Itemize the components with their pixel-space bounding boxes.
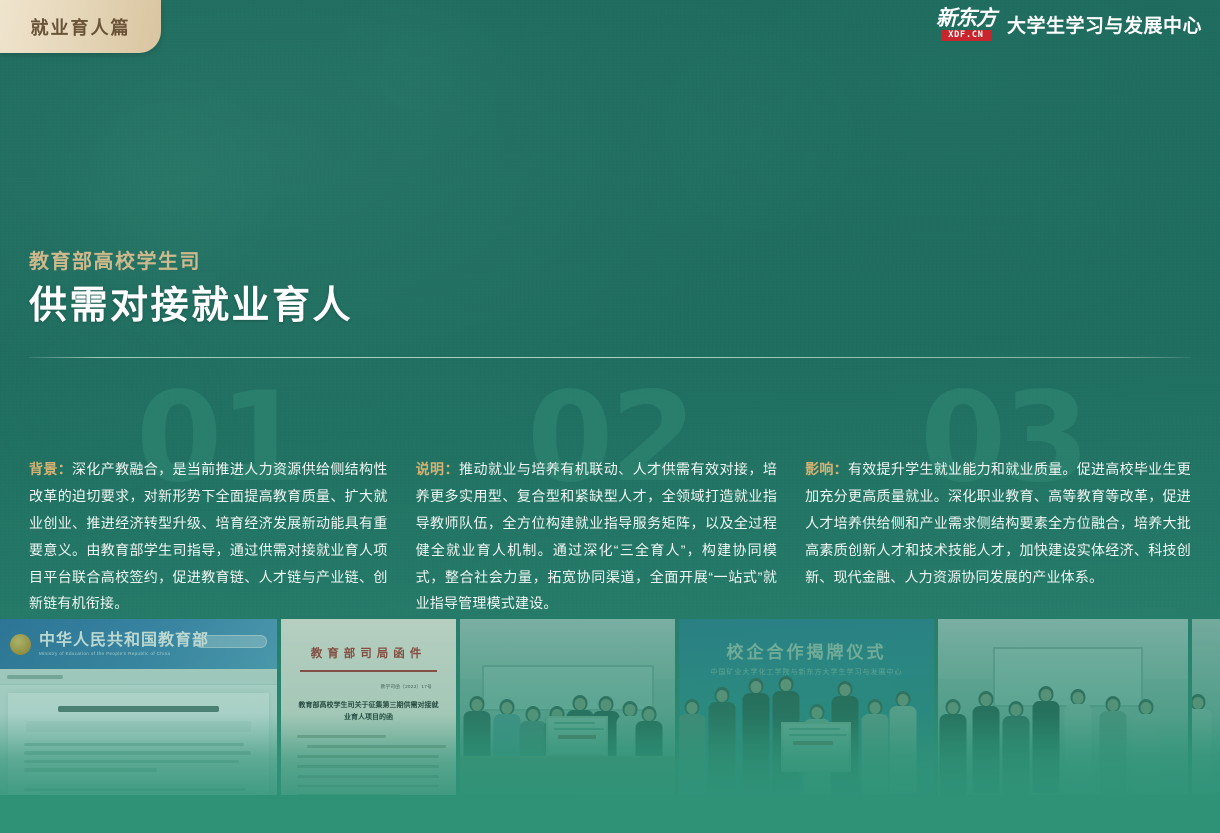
- article-line: [24, 760, 239, 763]
- article-line: [24, 768, 157, 771]
- breadcrumb: [0, 669, 277, 685]
- gallery-strip: 中华人民共和国教育部 Ministry of Education of the …: [0, 619, 1220, 833]
- official-letter: 教育部司局函件 教学司函〔2023〕17号 教育部高校学生司关于征集第三期供需对…: [281, 619, 456, 795]
- website-header: 中华人民共和国教育部 Ministry of Education of the …: [0, 619, 277, 669]
- document-line: [297, 735, 386, 738]
- brand-logo-mark: 新东方 XDF.CN: [936, 8, 996, 41]
- website-screenshot: 中华人民共和国教育部 Ministry of Education of the …: [0, 619, 277, 795]
- brand-logo-cn: 新东方: [936, 8, 996, 29]
- article-line: [24, 743, 244, 746]
- document-line: [297, 775, 439, 778]
- column-description-label: 说明：: [416, 461, 459, 477]
- document-rule: [300, 670, 437, 672]
- content-columns: 背景：深化产教融合，是当前推进人力资源供给侧结构性改革的迫切要求，对新形势下全面…: [29, 456, 1191, 617]
- column-impact-text: 有效提升学生就业能力和就业质量。促进高校毕业生更加充分更高质量就业。深化职业教育…: [805, 461, 1191, 585]
- photo-green-wash: [938, 619, 1188, 795]
- brand-logo-domain: XDF.CN: [941, 30, 991, 41]
- article-meta: [26, 721, 251, 732]
- column-impact-label: 影响：: [805, 461, 848, 477]
- national-emblem-icon: [10, 634, 31, 655]
- website-titles: 中华人民共和国教育部 Ministry of Education of the …: [39, 632, 209, 657]
- website-article: [8, 693, 269, 795]
- document-line: [297, 785, 439, 788]
- article-title: [58, 706, 218, 712]
- gallery-item-photo-signing[interactable]: [460, 619, 675, 795]
- title-block: 教育部高校学生司 供需对接就业育人: [29, 250, 1189, 329]
- column-background-body: 背景：深化产教融合，是当前推进人力资源供给侧结构性改革的迫切要求，对新形势下全面…: [29, 456, 388, 617]
- document-line: [307, 745, 446, 748]
- gallery-item-document[interactable]: 教育部司局函件 教学司函〔2023〕17号 教育部高校学生司关于征集第三期供需对…: [281, 619, 456, 795]
- article-line: [24, 788, 246, 791]
- section-tab[interactable]: 就业育人篇: [0, 0, 161, 53]
- photo-green-wash: [679, 619, 934, 795]
- photo-partial: [1192, 619, 1220, 795]
- column-description-text: 推动就业与培养有机联动、人才供需有效对接，培养更多实用型、复合型和紧缺型人才，全…: [416, 461, 778, 611]
- title-divider: [29, 357, 1191, 358]
- gallery-item-photo-ceremony[interactable]: 校企合作揭牌仪式 中国矿业大学化工学院与新东方大学生学习与发展中心: [679, 619, 934, 795]
- website-title-cn: 中华人民共和国教育部: [39, 632, 209, 650]
- column-impact: 影响：有效提升学生就业能力和就业质量。促进高校毕业生更加充分更高质量就业。深化职…: [805, 456, 1191, 617]
- article-line: [24, 751, 251, 754]
- column-description-body: 说明：推动就业与培养有机联动、人才供需有效对接，培养更多实用型、复合型和紧缺型人…: [416, 456, 778, 617]
- document-line: [297, 794, 401, 795]
- page-title: 供需对接就业育人: [29, 284, 1189, 329]
- brand-name: 大学生学习与发展中心: [1007, 11, 1202, 38]
- document-number: 教学司函〔2023〕17号: [297, 684, 432, 690]
- column-background-text: 深化产教融合，是当前推进人力资源供给侧结构性改革的迫切要求，对新形势下全面提高教…: [29, 461, 388, 611]
- photo-ceremony: 校企合作揭牌仪式 中国矿业大学化工学院与新东方大学生学习与发展中心: [679, 619, 934, 795]
- document-subject: 教育部高校学生司关于征集第三期供需对接就业育人项目的函: [297, 699, 440, 724]
- photo-signing: [460, 619, 675, 795]
- search-input[interactable]: [195, 635, 267, 648]
- photo-green-wash: [1192, 619, 1220, 795]
- title-eyebrow: 教育部高校学生司: [29, 250, 1189, 275]
- website-title-en: Ministry of Education of the People's Re…: [39, 651, 209, 656]
- photo-green-wash: [460, 619, 675, 795]
- column-background-label: 背景：: [29, 461, 72, 477]
- column-description: 说明：推动就业与培养有机联动、人才供需有效对接，培养更多实用型、复合型和紧缺型人…: [416, 456, 806, 617]
- gallery-item-photo-partial[interactable]: [1192, 619, 1220, 795]
- photo-group: [938, 619, 1188, 795]
- column-impact-body: 影响：有效提升学生就业能力和就业质量。促进高校毕业生更加充分更高质量就业。深化职…: [805, 456, 1191, 590]
- brand-lockup: 新东方 XDF.CN 大学生学习与发展中心: [936, 8, 1202, 41]
- document-header: 教育部司局函件: [297, 645, 440, 661]
- column-background: 背景：深化产教融合，是当前推进人力资源供给侧结构性改革的迫切要求，对新形势下全面…: [29, 456, 416, 617]
- gallery-item-website[interactable]: 中华人民共和国教育部 Ministry of Education of the …: [0, 619, 277, 795]
- document-line: [297, 755, 439, 758]
- document-line: [297, 765, 439, 768]
- section-tab-label: 就业育人篇: [31, 14, 131, 40]
- gallery-item-photo-group[interactable]: [938, 619, 1188, 795]
